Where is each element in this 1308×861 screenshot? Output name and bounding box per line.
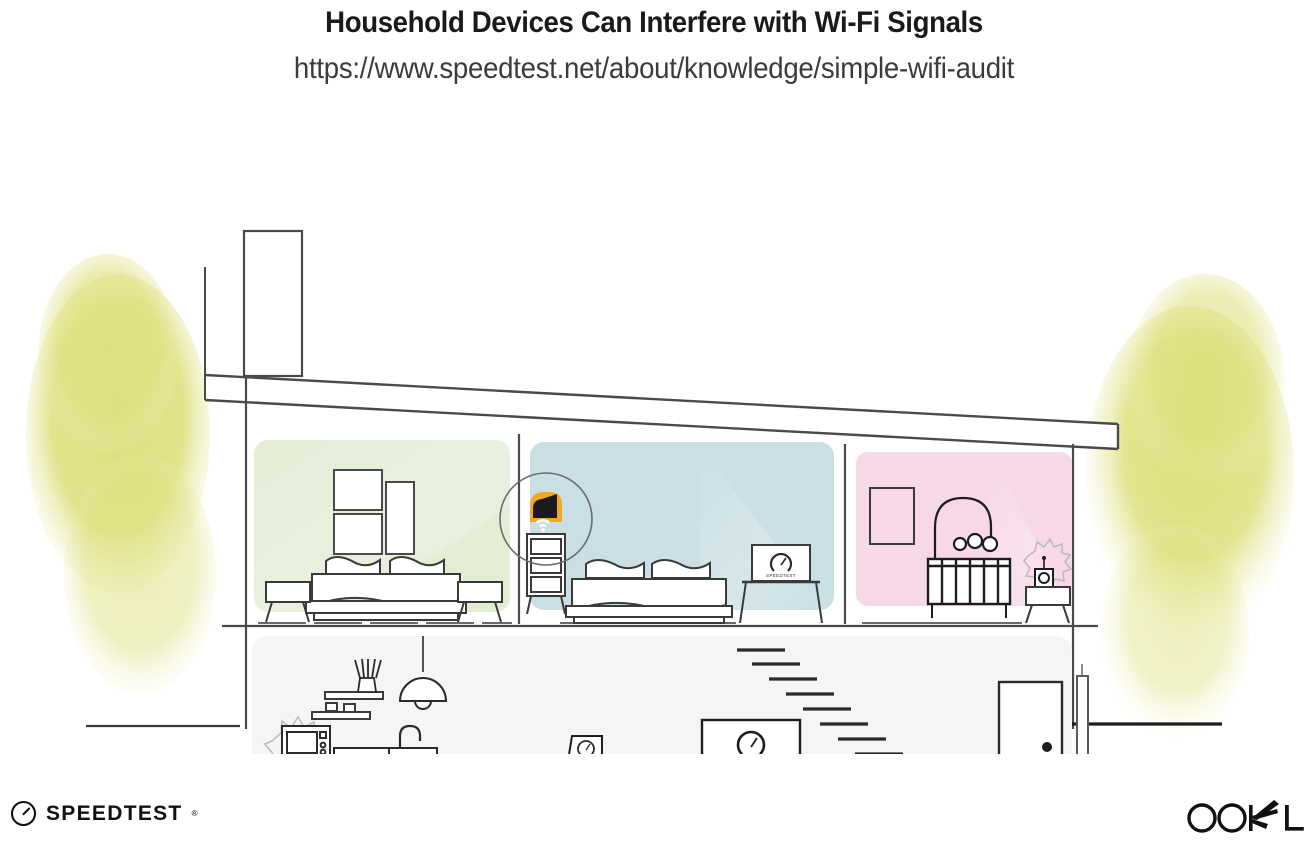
room-bedroom-blue: SPEEDTEST [500,442,834,623]
ookla-logo-mark [1182,796,1308,840]
laptop-dining [568,736,602,754]
roof-and-chimney [205,231,1118,449]
source-url: https://www.speedtest.net/about/knowledg… [52,52,1255,86]
speedtest-logo: SPEEDTEST ® [10,800,197,827]
wall-frame [870,488,914,544]
crib [928,559,1010,618]
television [702,720,800,754]
microwave [282,726,330,754]
ookla-logo [1182,796,1308,840]
foliage-right [1086,274,1294,744]
room-bedroom-green [254,440,512,623]
infographic-page: Household Devices Can Interfere with Wi-… [0,0,1308,861]
room-living-kitchen: SPEEDTEST [252,636,1088,754]
side-table [1026,587,1070,623]
room-nursery-pink [856,452,1072,623]
laptop-screen-label: SPEEDTEST [766,573,796,578]
page-title: Household Devices Can Interfere with Wi-… [52,6,1255,40]
nightstand-left [266,582,310,622]
speedtest-registered-mark: ® [192,809,198,818]
roof-slab [205,267,1118,449]
sidelight-window [1077,664,1088,754]
speedtest-gauge-icon [10,800,37,827]
foliage-left [26,254,216,694]
chimney [244,231,302,376]
house-illustration: SPEEDTEST [0,104,1308,754]
nightstand-right [458,582,502,622]
speedtest-logo-text: SPEEDTEST [46,802,183,826]
